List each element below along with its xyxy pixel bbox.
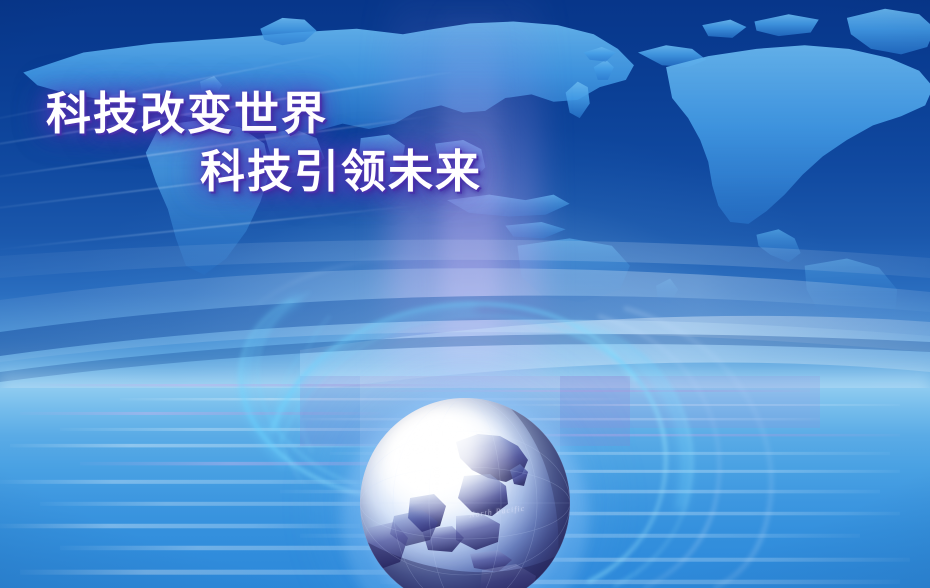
headline-line-2: 科技引领未来 [0, 144, 470, 200]
headline-line-1: 科技改变世界 [0, 86, 470, 142]
headline: 科技改变世界 科技引领未来 [0, 86, 470, 200]
tech-banner: North Pacific 科技改变世界 科技引领未来 [0, 0, 930, 588]
